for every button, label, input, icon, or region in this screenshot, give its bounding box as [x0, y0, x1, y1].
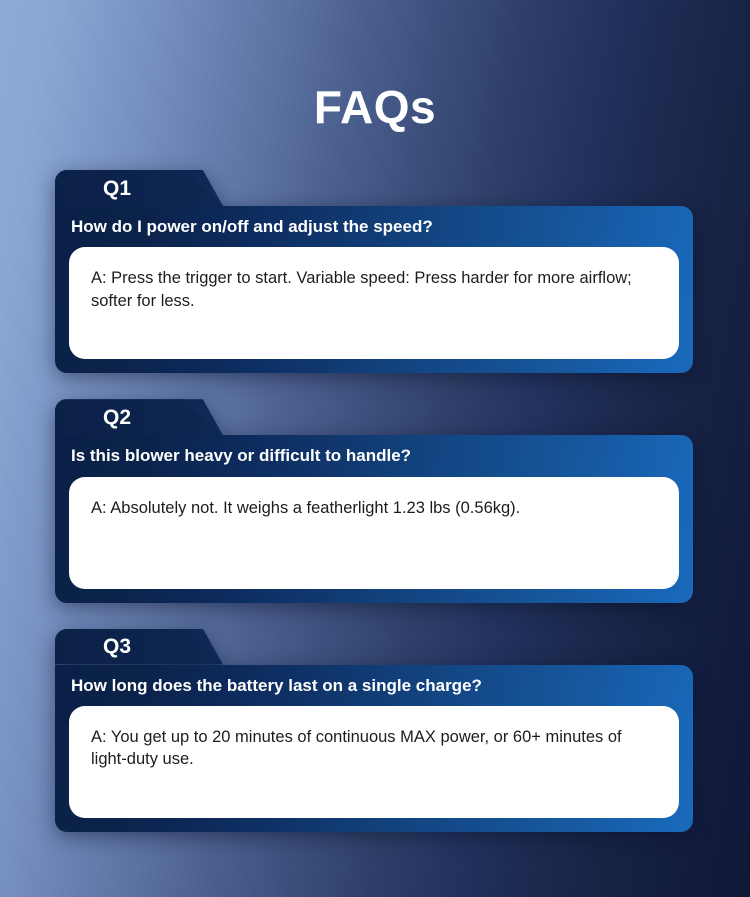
faq-tab-label: Q2 — [55, 399, 223, 435]
faq-answer-box: A: Press the trigger to start. Variable … — [69, 247, 679, 359]
faq-page: FAQs Q1 How do I power on/off and adjust… — [0, 0, 750, 897]
faq-card-body: Is this blower heavy or difficult to han… — [55, 435, 693, 602]
faq-question: How long does the battery last on a sing… — [69, 675, 679, 696]
faq-answer-text: A: You get up to 20 minutes of continuou… — [91, 726, 657, 771]
faq-tab-row: Q3 — [55, 629, 693, 665]
page-title: FAQs — [0, 84, 750, 130]
faq-tab-label: Q3 — [55, 629, 223, 665]
faq-card-body: How do I power on/off and adjust the spe… — [55, 206, 693, 373]
faq-list: Q1 How do I power on/off and adjust the … — [55, 170, 693, 858]
faq-answer-box: A: You get up to 20 minutes of continuou… — [69, 706, 679, 818]
faq-card[interactable]: Q1 How do I power on/off and adjust the … — [55, 170, 693, 373]
faq-answer-text: A: Press the trigger to start. Variable … — [91, 267, 657, 312]
faq-question: How do I power on/off and adjust the spe… — [69, 216, 679, 237]
faq-tab-row: Q2 — [55, 399, 693, 435]
faq-answer-box: A: Absolutely not. It weighs a featherli… — [69, 477, 679, 589]
faq-card[interactable]: Q3 How long does the battery last on a s… — [55, 629, 693, 832]
faq-tab-row: Q1 — [55, 170, 693, 206]
faq-answer-text: A: Absolutely not. It weighs a featherli… — [91, 497, 657, 519]
faq-card[interactable]: Q2 Is this blower heavy or difficult to … — [55, 399, 693, 602]
faq-question: Is this blower heavy or difficult to han… — [69, 445, 679, 466]
faq-card-body: How long does the battery last on a sing… — [55, 665, 693, 832]
faq-tab-label: Q1 — [55, 170, 223, 206]
